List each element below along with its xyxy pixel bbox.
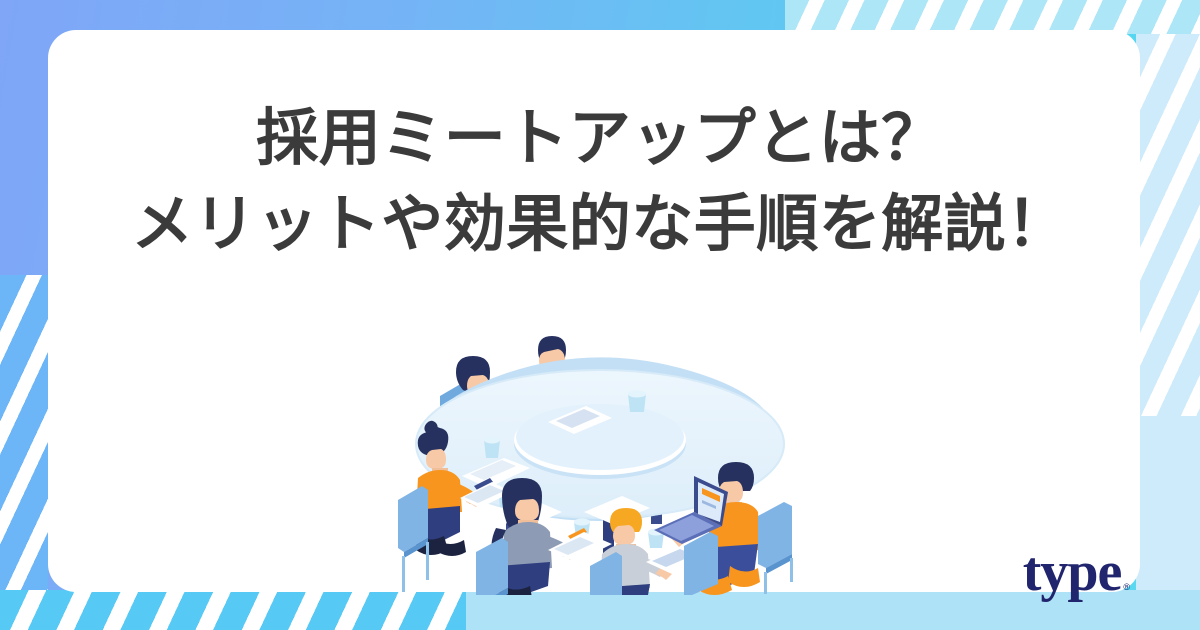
chair-right xyxy=(758,502,793,594)
chair-front-right xyxy=(590,552,622,595)
meeting-illustration xyxy=(398,300,802,595)
diagonal-stripes-top-right xyxy=(785,0,1200,34)
water-glass-1 xyxy=(628,391,646,413)
page-title-line-1: 採用ミートアップとは？ xyxy=(0,96,1200,182)
diagonal-stripes-left xyxy=(0,275,48,630)
chair-front-center xyxy=(476,538,508,595)
brand-logo: type ® xyxy=(1023,550,1130,596)
diagonal-stripes-bottom-left xyxy=(0,590,470,630)
page-title: 採用ミートアップとは？ メリットや効果的な手順を解説！ xyxy=(0,96,1200,267)
water-glass-2 xyxy=(484,437,500,459)
brand-logo-text: type xyxy=(1023,550,1122,596)
registered-trademark-icon: ® xyxy=(1123,582,1130,592)
page-title-line-2: メリットや効果的な手順を解説！ xyxy=(0,182,1200,268)
chair-far-right xyxy=(684,532,718,595)
og-image-canvas: 採用ミートアップとは？ メリットや効果的な手順を解説！ xyxy=(0,0,1200,630)
chair-left xyxy=(398,486,429,592)
